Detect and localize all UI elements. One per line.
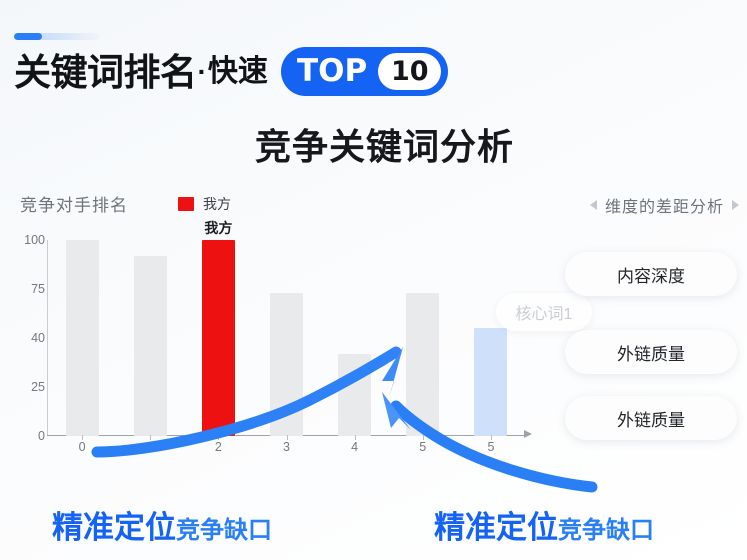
chart-bar[interactable] <box>270 293 303 436</box>
callout-left: 精准定位 竞争缺口 <box>52 502 272 547</box>
top-badge-word: TOP <box>297 56 367 87</box>
callout-right: 精准定位 竞争缺口 <box>434 502 654 547</box>
chart-bar-highlighted[interactable] <box>202 240 235 436</box>
chart-x-tick: 1 <box>147 440 154 454</box>
chart-y-tick: 100 <box>7 233 45 247</box>
dimension-gap-label: 维度的差距分析 <box>605 193 724 217</box>
callout-left-weak: 竞争缺口 <box>176 510 272 545</box>
chart-bar[interactable] <box>406 293 439 436</box>
page-title-text: 竞争关键词分析 <box>233 118 514 170</box>
chart-x-tick: 5 <box>419 440 426 454</box>
dimension-card-label: 内容深度 <box>617 262 685 287</box>
chevron-right-icon[interactable] <box>732 200 739 210</box>
chart-x-tick: 5 <box>487 440 494 454</box>
legend-label-ours: 我方 <box>203 194 231 214</box>
ghost-keyword-pill[interactable]: 核心词1 <box>496 293 592 331</box>
chart-y-tick: 75 <box>7 282 45 296</box>
page-headline: 关键词排名 · 快速 <box>14 46 268 98</box>
dimension-card[interactable]: 内容深度 <box>565 252 737 296</box>
dimension-gap-header: 维度的差距分析 <box>590 193 739 217</box>
chart-bar-label-ours: 我方 <box>204 218 232 238</box>
top-rank-badge[interactable]: TOP 10 <box>281 47 448 96</box>
headline-separator: · <box>197 56 208 88</box>
chart-legend-title: 竞争对手排名 <box>20 191 128 216</box>
chart-panel: 竞争对手排名 我方 0254075100 我方 0123455 <box>0 186 540 486</box>
chart-y-axis: 0254075100 <box>0 226 45 436</box>
chart-bar[interactable] <box>474 328 507 436</box>
chart-x-tick: 3 <box>283 440 290 454</box>
legend-swatch-ours <box>178 197 194 211</box>
chart-y-tick: 40 <box>7 331 45 345</box>
dimension-card-label: 外链质量 <box>617 340 685 365</box>
chart-x-tick: 4 <box>351 440 358 454</box>
headline-main-text: 关键词排名 <box>14 54 197 91</box>
chart-x-tick: 2 <box>215 440 222 454</box>
chart-x-tick: 0 <box>79 440 86 454</box>
chart-y-tick: 25 <box>7 380 45 394</box>
callout-left-strong: 精准定位 <box>52 502 176 547</box>
top-badge-number: 10 <box>378 53 441 90</box>
page-root: 关键词排名 · 快速 TOP 10 竞争关键词分析 竞争对手排名 我方 0254… <box>0 0 747 560</box>
chart-plot-area: 0254075100 我方 0123455 <box>0 226 540 486</box>
headline-secondary-text: 快速 <box>208 57 268 87</box>
dimension-card[interactable]: 外链质量 <box>565 330 737 374</box>
progress-indicator-fill <box>14 33 42 40</box>
progress-indicator <box>14 33 100 40</box>
page-title: 竞争关键词分析 <box>0 118 747 170</box>
chart-y-tick: 0 <box>7 429 45 443</box>
dimension-card-label: 外链质量 <box>617 406 685 431</box>
chevron-left-icon[interactable] <box>590 200 597 210</box>
chart-x-axis-arrow-icon <box>524 430 532 438</box>
chart-legend[interactable]: 我方 <box>178 194 231 214</box>
callout-right-weak: 竞争缺口 <box>558 510 654 545</box>
chart-bar[interactable] <box>66 240 99 436</box>
callout-right-strong: 精准定位 <box>434 502 558 547</box>
chart-bars <box>48 240 525 436</box>
dimension-card[interactable]: 外链质量 <box>565 396 737 440</box>
chart-bar[interactable] <box>338 354 371 436</box>
ghost-keyword-label: 核心词1 <box>516 300 573 324</box>
chart-bar[interactable] <box>134 256 167 436</box>
